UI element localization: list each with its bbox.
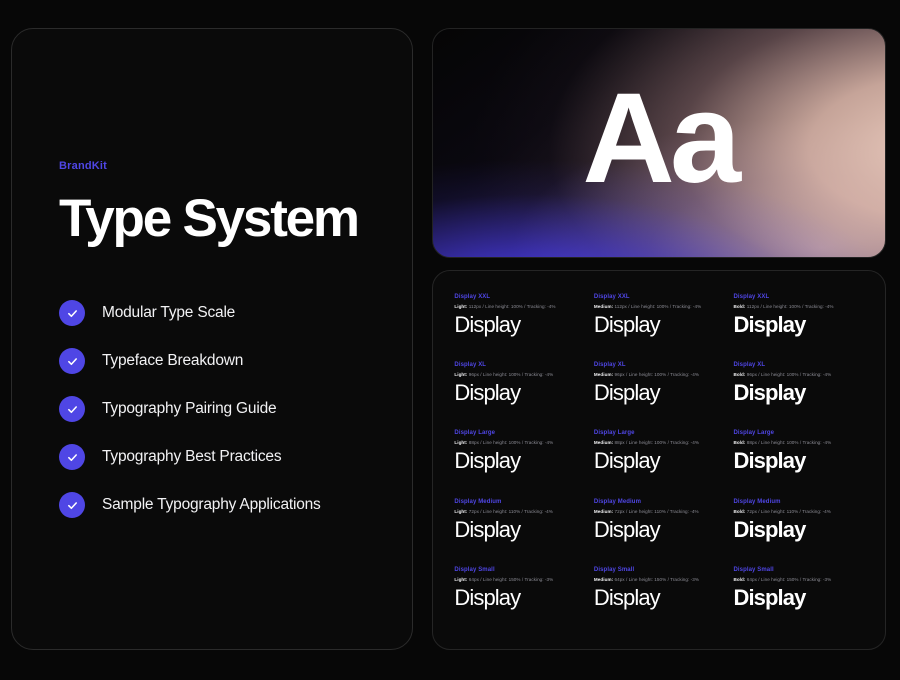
type-scale-grid: Display XXLLight: 112px / Line height: 1… [454, 292, 868, 633]
type-scale-meta: Medium: 64px / Line height: 150% / Track… [594, 577, 729, 582]
type-scale-metrics: 112px / Line height: 100% / Tracking: -4… [613, 304, 701, 309]
feature-label: Modular Type Scale [102, 304, 235, 322]
type-scale-cell: Display LargeBold: 88px / Line height: 1… [733, 428, 868, 496]
type-scale-cell: Display XXLLight: 112px / Line height: 1… [454, 292, 589, 360]
type-scale-weight-label: Medium: [594, 440, 613, 445]
type-scale-metrics: 64px / Line height: 150% / Tracking: -3% [613, 577, 699, 582]
check-icon [59, 348, 85, 374]
type-scale-name: Display Large [594, 430, 729, 436]
type-scale-weight-label: Light: [454, 509, 467, 514]
type-scale-meta: Bold: 112px / Line height: 100% / Tracki… [733, 304, 868, 309]
type-scale-name: Display XXL [594, 294, 729, 300]
check-icon [59, 444, 85, 470]
type-scale-name: Display Medium [454, 499, 589, 505]
feature-item: Typography Best Practices [59, 444, 365, 470]
type-scale-name: Display Small [594, 567, 729, 573]
type-scale-cell: Display SmallMedium: 64px / Line height:… [594, 565, 729, 633]
type-scale-sample: Display [454, 382, 589, 404]
type-scale-card: Display XXLLight: 112px / Line height: 1… [432, 270, 886, 650]
type-scale-name: Display Small [454, 567, 589, 573]
type-scale-sample: Display [454, 587, 589, 609]
type-scale-weight-label: Light: [454, 440, 467, 445]
type-scale-name: Display XL [454, 362, 589, 368]
type-scale-weight-label: Medium: [594, 577, 613, 582]
type-scale-sample: Display [733, 382, 868, 404]
feature-item: Modular Type Scale [59, 300, 365, 326]
type-scale-metrics: 64px / Line height: 150% / Tracking: -3% [745, 577, 831, 582]
type-scale-cell: Display LargeLight: 88px / Line height: … [454, 428, 589, 496]
type-scale-cell: Display XLBold: 96px / Line height: 100%… [733, 360, 868, 428]
type-scale-meta: Medium: 72px / Line height: 110% / Track… [594, 509, 729, 514]
type-scale-metrics: 112px / Line height: 100% / Tracking: -4… [745, 304, 833, 309]
feature-item: Typeface Breakdown [59, 348, 365, 374]
type-scale-cell: Display LargeMedium: 88px / Line height:… [594, 428, 729, 496]
type-scale-metrics: 64px / Line height: 150% / Tracking: -3% [467, 577, 553, 582]
type-scale-metrics: 112px / Line height: 100% / Tracking: -4… [467, 304, 555, 309]
typeface-preview-card: Aa [432, 28, 886, 258]
right-column: Aa Display XXLLight: 112px / Line height… [432, 28, 886, 650]
type-scale-weight-label: Medium: [594, 372, 613, 377]
feature-list: Modular Type ScaleTypeface BreakdownTypo… [59, 300, 365, 518]
type-scale-sample: Display [454, 519, 589, 541]
type-scale-meta: Light: 72px / Line height: 110% / Tracki… [454, 509, 589, 514]
type-scale-name: Display XXL [454, 294, 589, 300]
type-scale-name: Display Large [454, 430, 589, 436]
feature-label: Sample Typography Applications [102, 496, 321, 514]
type-scale-meta: Light: 64px / Line height: 150% / Tracki… [454, 577, 589, 582]
type-scale-cell: Display XXLBold: 112px / Line height: 10… [733, 292, 868, 360]
type-scale-meta: Medium: 96px / Line height: 100% / Track… [594, 372, 729, 377]
type-scale-weight-label: Bold: [733, 304, 745, 309]
type-scale-weight-label: Bold: [733, 372, 745, 377]
type-scale-cell: Display XLLight: 96px / Line height: 100… [454, 360, 589, 428]
type-scale-metrics: 96px / Line height: 100% / Tracking: -4% [745, 372, 831, 377]
type-scale-sample: Display [594, 519, 729, 541]
type-scale-metrics: 72px / Line height: 110% / Tracking: -4% [745, 509, 830, 514]
type-scale-cell: Display SmallLight: 64px / Line height: … [454, 565, 589, 633]
type-scale-meta: Light: 88px / Line height: 100% / Tracki… [454, 440, 589, 445]
type-scale-meta: Light: 112px / Line height: 100% / Track… [454, 304, 589, 309]
type-scale-metrics: 96px / Line height: 100% / Tracking: -4% [467, 372, 553, 377]
type-scale-name: Display Small [733, 567, 868, 573]
type-scale-weight-label: Bold: [733, 509, 745, 514]
type-scale-name: Display Medium [733, 499, 868, 505]
overview-card: BrandKit Type System Modular Type ScaleT… [11, 28, 413, 650]
check-icon [59, 300, 85, 326]
type-scale-meta: Medium: 88px / Line height: 100% / Track… [594, 440, 729, 445]
feature-label: Typography Pairing Guide [102, 400, 276, 418]
type-scale-name: Display Medium [594, 499, 729, 505]
feature-label: Typeface Breakdown [102, 352, 243, 370]
type-scale-metrics: 72px / Line height: 110% / Tracking: -4% [467, 509, 552, 514]
check-icon [59, 396, 85, 422]
type-scale-metrics: 96px / Line height: 100% / Tracking: -4% [613, 372, 699, 377]
type-scale-sample: Display [733, 519, 868, 541]
type-scale-sample: Display [733, 314, 868, 336]
type-scale-weight-label: Bold: [733, 440, 745, 445]
type-scale-sample: Display [594, 587, 729, 609]
type-scale-cell: Display MediumBold: 72px / Line height: … [733, 497, 868, 565]
type-scale-weight-label: Bold: [733, 577, 745, 582]
type-scale-weight-label: Light: [454, 577, 467, 582]
type-scale-meta: Medium: 112px / Line height: 100% / Trac… [594, 304, 729, 309]
type-scale-sample: Display [594, 450, 729, 472]
brand-eyebrow: BrandKit [59, 160, 365, 172]
type-scale-sample: Display [733, 450, 868, 472]
type-scale-cell: Display XLMedium: 96px / Line height: 10… [594, 360, 729, 428]
type-scale-sample: Display [454, 314, 589, 336]
type-scale-name: Display Large [733, 430, 868, 436]
type-scale-cell: Display MediumLight: 72px / Line height:… [454, 497, 589, 565]
feature-item: Sample Typography Applications [59, 492, 365, 518]
feature-label: Typography Best Practices [102, 448, 281, 466]
feature-item: Typography Pairing Guide [59, 396, 365, 422]
type-scale-meta: Light: 96px / Line height: 100% / Tracki… [454, 372, 589, 377]
type-scale-meta: Bold: 64px / Line height: 150% / Trackin… [733, 577, 868, 582]
type-scale-name: Display XXL [733, 294, 868, 300]
type-scale-cell: Display XXLMedium: 112px / Line height: … [594, 292, 729, 360]
type-scale-weight-label: Medium: [594, 304, 613, 309]
type-scale-weight-label: Light: [454, 304, 467, 309]
page-root: BrandKit Type System Modular Type ScaleT… [0, 0, 900, 680]
type-scale-sample: Display [594, 314, 729, 336]
type-scale-metrics: 88px / Line height: 100% / Tracking: -4% [467, 440, 553, 445]
type-scale-name: Display XL [733, 362, 868, 368]
type-scale-weight-label: Medium: [594, 509, 613, 514]
type-scale-sample: Display [733, 587, 868, 609]
type-scale-sample: Display [594, 382, 729, 404]
type-scale-meta: Bold: 96px / Line height: 100% / Trackin… [733, 372, 868, 377]
aa-specimen-glyph: Aa [582, 75, 736, 211]
page-title: Type System [59, 192, 365, 246]
type-scale-meta: Bold: 72px / Line height: 110% / Trackin… [733, 509, 868, 514]
type-scale-name: Display XL [594, 362, 729, 368]
check-icon [59, 492, 85, 518]
type-scale-cell: Display MediumMedium: 72px / Line height… [594, 497, 729, 565]
type-scale-metrics: 72px / Line height: 110% / Tracking: -4% [613, 509, 698, 514]
type-scale-metrics: 88px / Line height: 100% / Tracking: -4% [613, 440, 699, 445]
type-scale-metrics: 88px / Line height: 100% / Tracking: -4% [745, 440, 831, 445]
type-scale-meta: Bold: 88px / Line height: 100% / Trackin… [733, 440, 868, 445]
type-scale-cell: Display SmallBold: 64px / Line height: 1… [733, 565, 868, 633]
type-scale-sample: Display [454, 450, 589, 472]
type-scale-weight-label: Light: [454, 372, 467, 377]
